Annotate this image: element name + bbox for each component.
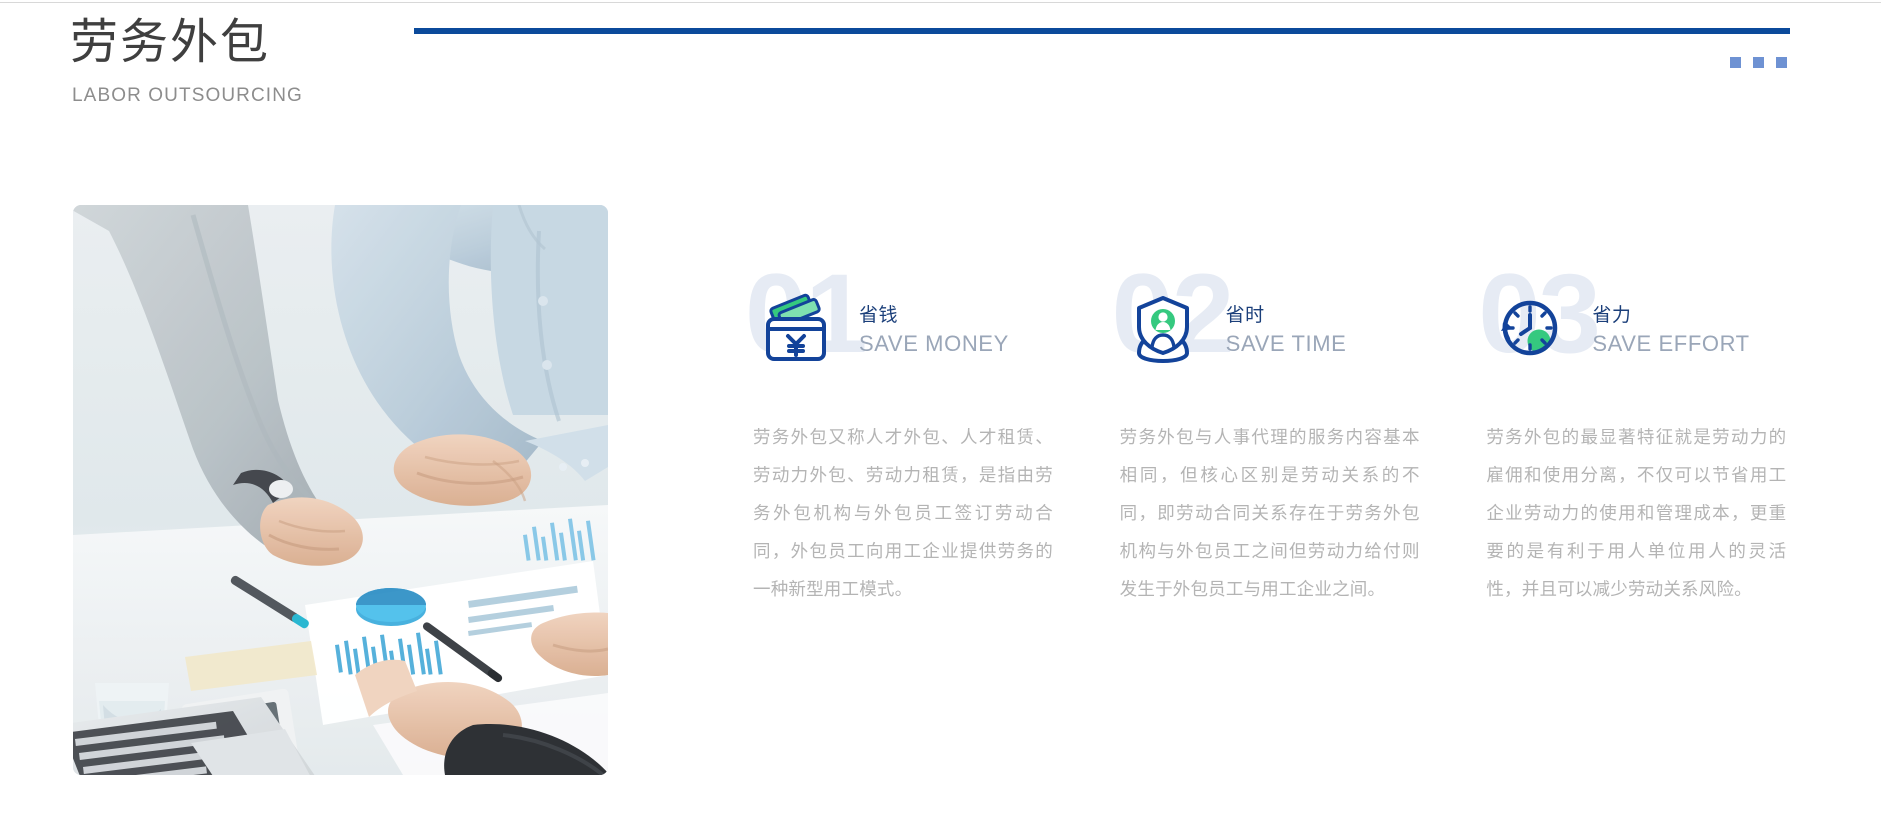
top-divider <box>0 2 1881 3</box>
meeting-photo <box>73 205 608 775</box>
feature-header-03: 省力 SAVE EFFORT <box>1486 280 1853 376</box>
feature-labels-01: 省钱 SAVE MONEY <box>859 298 1009 358</box>
feature-title-en-03: SAVE EFFORT <box>1592 329 1749 358</box>
shield-person-icon <box>1126 291 1200 365</box>
header-accent-bar <box>414 28 1790 34</box>
feature-title-en-02: SAVE TIME <box>1226 329 1347 358</box>
clock-refresh-icon <box>1492 291 1566 365</box>
features-row: 01 <box>753 280 1853 608</box>
feature-title-cn-03: 省力 <box>1592 302 1749 329</box>
feature-labels-03: 省力 SAVE EFFORT <box>1592 298 1749 358</box>
wallet-yen-icon <box>759 291 833 365</box>
feature-header-02: 省时 SAVE TIME <box>1120 280 1487 376</box>
dot-1-icon <box>1730 57 1741 68</box>
feature-title-cn-02: 省时 <box>1226 302 1347 329</box>
dot-3-icon <box>1776 57 1787 68</box>
feature-card-save-time: 02 省 <box>1120 280 1487 608</box>
feature-labels-02: 省时 SAVE TIME <box>1226 298 1347 358</box>
slide-root: 劳务外包 LABOR OUTSOURCING <box>0 0 1881 830</box>
feature-body-03: 劳务外包的最显著特征就是劳动力的雇佣和使用分离，不仅可以节省用工企业劳动力的使用… <box>1486 418 1786 608</box>
dot-2-icon <box>1753 57 1764 68</box>
feature-card-save-effort: 03 <box>1486 280 1853 608</box>
feature-body-02: 劳务外包与人事代理的服务内容基本相同，但核心区别是劳动关系的不同，即劳动合同关系… <box>1120 418 1420 608</box>
page-subtitle: LABOR OUTSOURCING <box>72 84 303 108</box>
page-title: 劳务外包 <box>70 12 270 74</box>
header-dots-group <box>1730 57 1787 68</box>
feature-header-01: 省钱 SAVE MONEY <box>753 280 1120 376</box>
feature-body-01: 劳务外包又称人才外包、人才租赁、劳动力外包、劳动力租赁，是指由劳务外包机构与外包… <box>753 418 1053 608</box>
feature-title-en-01: SAVE MONEY <box>859 329 1009 358</box>
feature-title-cn-01: 省钱 <box>859 302 1009 329</box>
feature-card-save-money: 01 <box>753 280 1120 608</box>
